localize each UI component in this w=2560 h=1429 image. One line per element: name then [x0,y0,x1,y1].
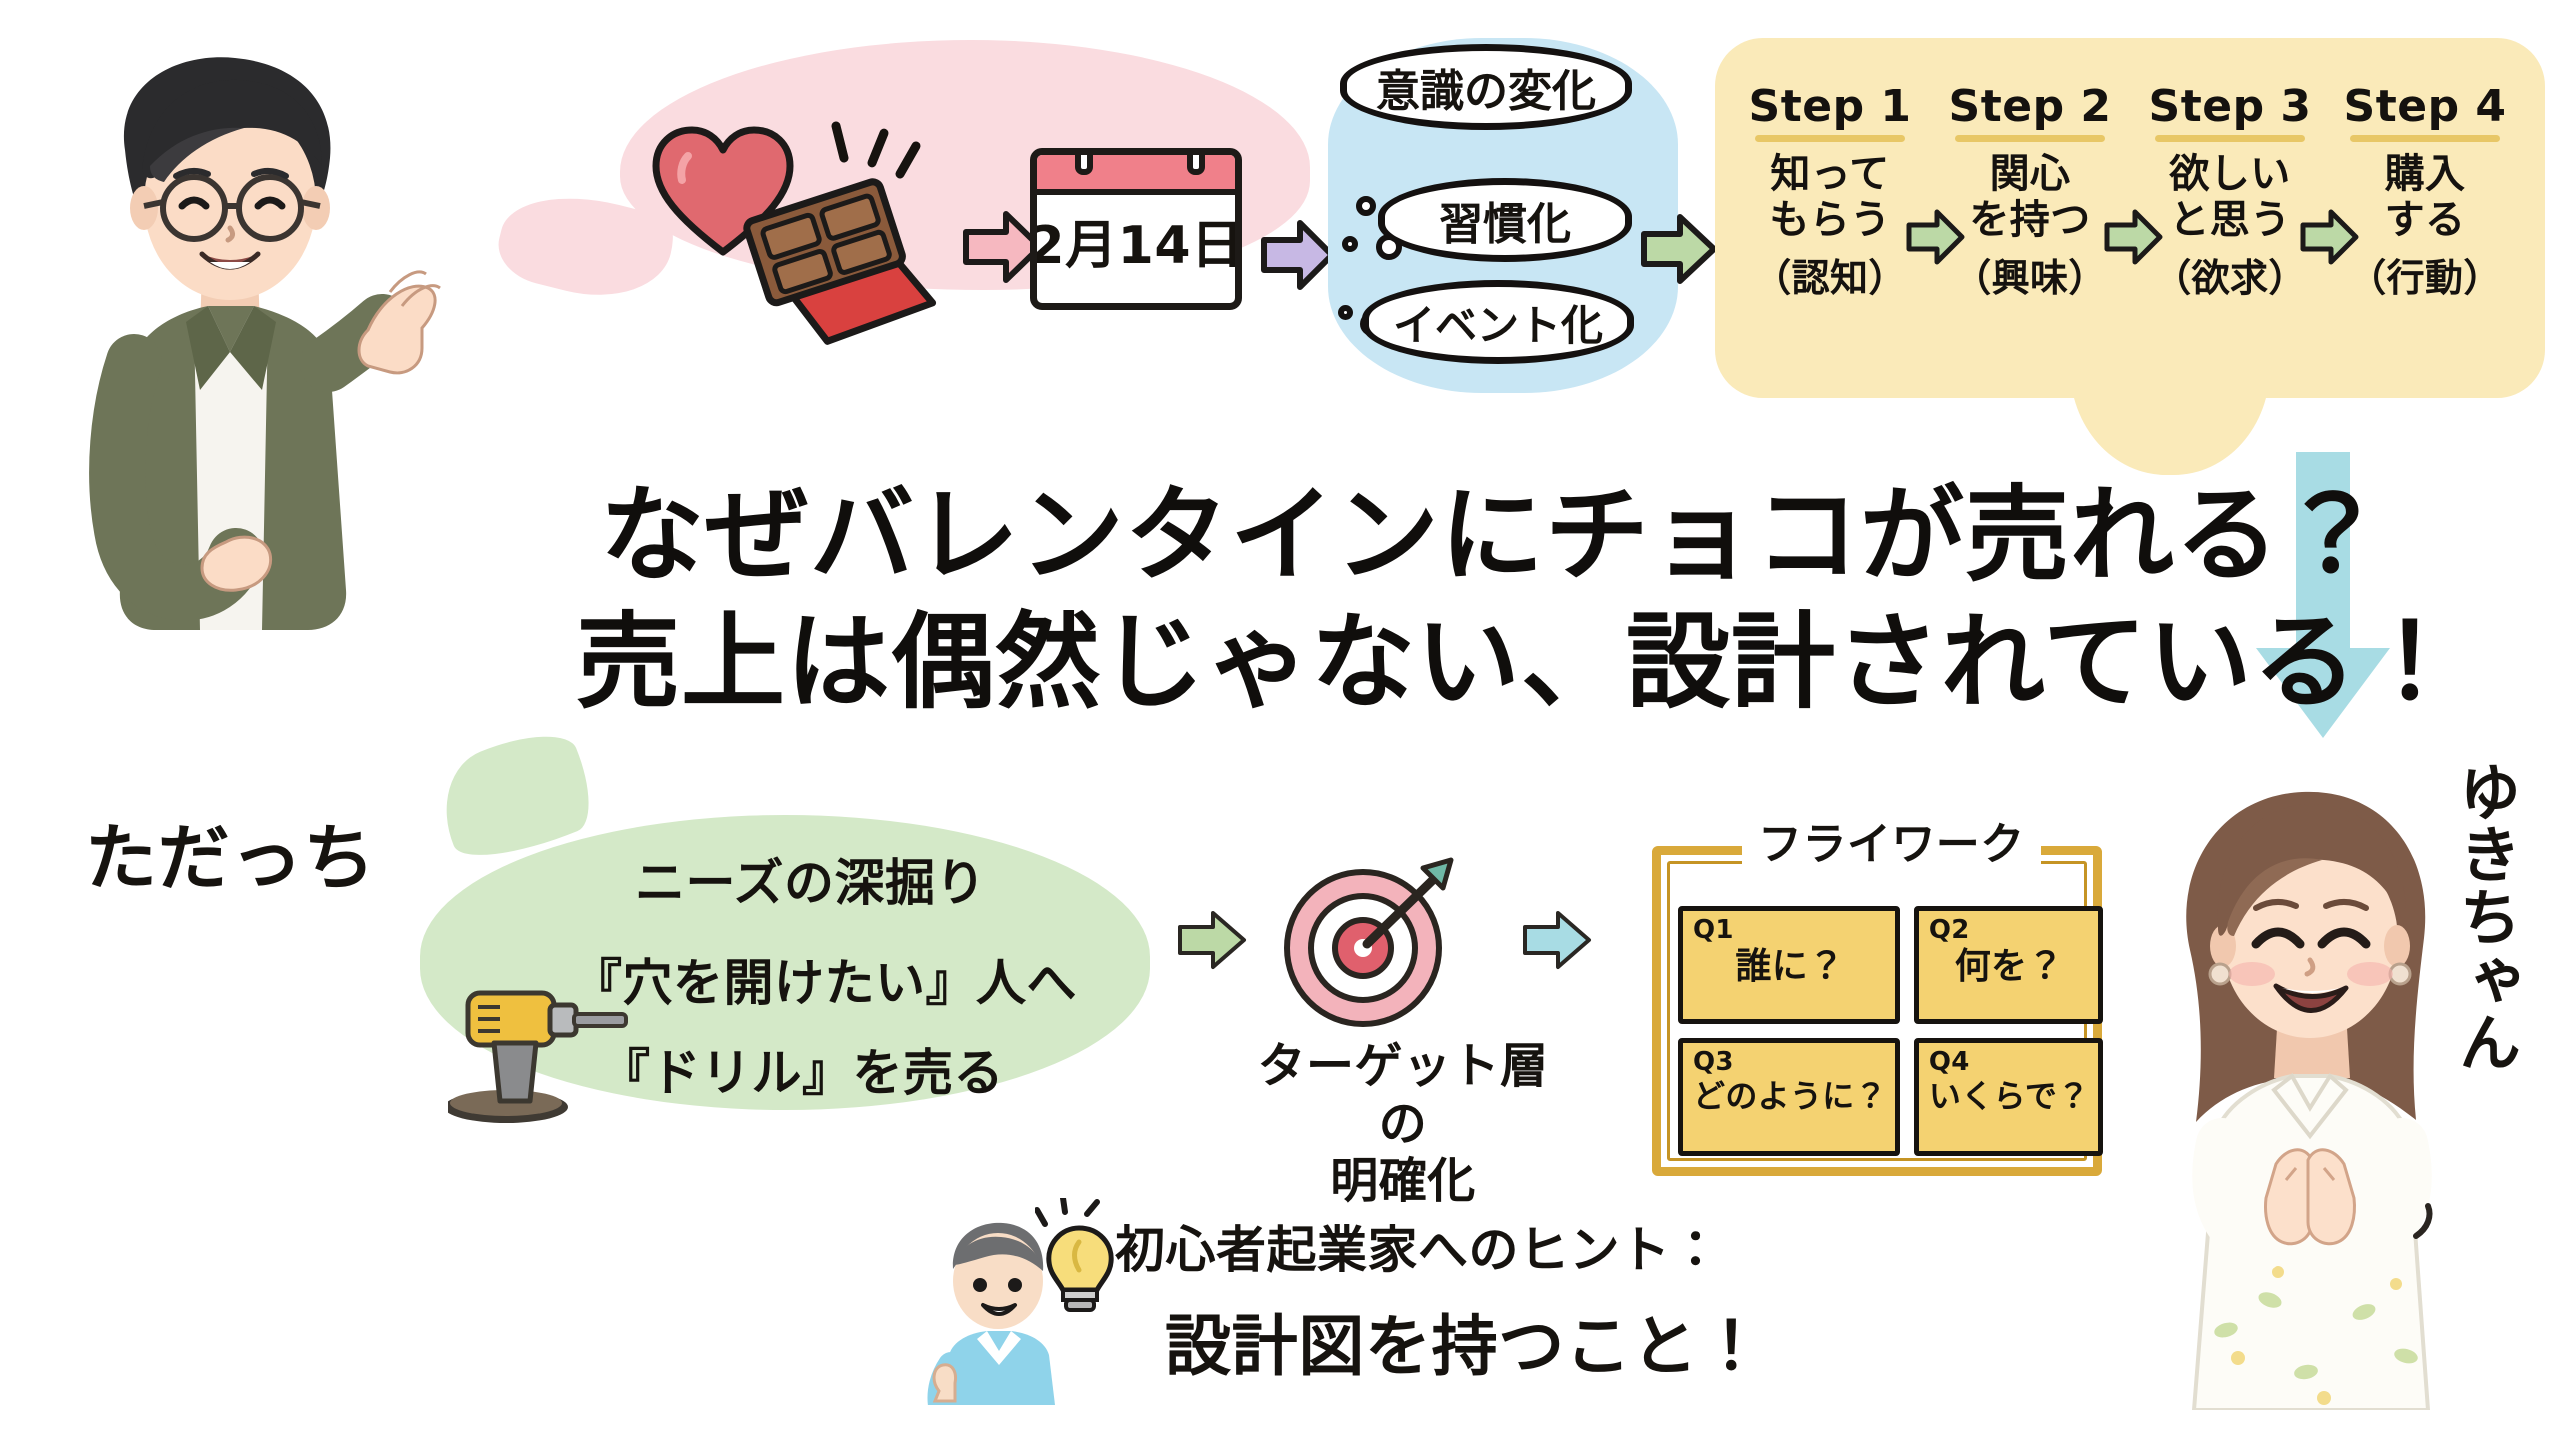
needs-heading: ニーズの深掘り [635,855,986,911]
page-title: なぜバレンタインにチョコが売れる？ 売上は偶然じゃない、設計されている！ [600,472,2150,726]
flywork-q1-number: Q1 [1693,917,1887,943]
character-name-left: ただっち [85,818,376,899]
hint-line-2: 設計図を持つこと！ [1165,1310,1765,1384]
step-1-line2: もらう [1740,198,1920,244]
thought-dot-small [1356,196,1376,216]
needs-to-target-arrow [1175,908,1249,976]
flywork-frame-label: フライワーク [1742,820,2041,869]
target-label-line-2: 明確化 [1243,1153,1563,1211]
flywork-cell-q3[interactable]: Q3 どのように？ [1678,1038,1900,1156]
step-3-line2: と思う [2140,198,2320,244]
purple-arrow-right-icon [1258,218,1338,296]
target-to-flywork-arrow [1520,908,1594,976]
thought-bubble-1: 意識の変化 [1340,44,1632,130]
step-1-paren: （認知） [1740,257,1920,300]
flywork-cell-q1[interactable]: Q1 誰に？ [1678,906,1900,1024]
calendar-date: 2月14日 [1037,195,1235,297]
step-4-line2: する [2335,198,2515,244]
flywork-cell-q4[interactable]: Q4 いくらで？ [1914,1038,2103,1156]
calendar-icon: 2月14日 [1030,148,1242,310]
flywork-q4-number: Q4 [1929,1049,2090,1075]
step-1-underline [1755,135,1905,142]
flywork-q2-text: 何を？ [1929,947,2090,987]
green-arrow-right-icon-main [1638,212,1720,290]
step-3-line1: 欲しい [2140,152,2320,198]
hint-line-1: 初心者起業家へのヒント： [1115,1222,1721,1278]
step-2-line1: 関心 [1940,152,2120,198]
step-2-line2: を持つ [1940,198,2120,244]
step-2-title: Step 2 [1940,82,2120,131]
step-4-underline [2350,135,2500,142]
thought-bubble-2-label: 習慣化 [1439,188,1571,252]
title-line-1: なぜバレンタインにチョコが売れる？ [600,472,2150,599]
needs-line-1: 『穴を開けたい』人へ [572,955,1077,1011]
thought-dot-tiny-2 [1338,305,1353,320]
infographic-canvas: ただっち [0,0,2560,1429]
target-dart-icon [1275,852,1455,1032]
step-3-title: Step 3 [2140,82,2320,131]
step-3: Step 3 欲しい と思う （欲求） [2140,82,2320,300]
flywork-q4-text: いくらで？ [1929,1079,2090,1115]
step-2-underline [1955,135,2105,142]
step-4: Step 4 購入 する （行動） [2335,82,2515,300]
step-2-paren: （興味） [1940,257,2120,300]
step-1-line1: 知って [1740,152,1920,198]
thought-bubble-3-label: イベント化 [1393,292,1603,353]
flywork-q1-text: 誰に？ [1693,947,1887,987]
target-label: ターゲット層の 明確化 [1243,1038,1563,1211]
thought-dot-tiny [1342,236,1358,252]
lightbulb-icon [1035,1198,1125,1318]
flywork-question-grid: Q1 誰に？ Q2 何を？ Q3 どのように？ Q4 いくらで？ [1678,906,2078,1156]
flywork-q2-number: Q2 [1929,917,2090,943]
flywork-q3-text: どのように？ [1693,1079,1887,1115]
target-label-line-1: ターゲット層の [1243,1038,1563,1153]
step-1: Step 1 知って もらう （認知） [1740,82,1920,300]
step-3-underline [2155,135,2305,142]
flywork-cell-q2[interactable]: Q2 何を？ [1914,906,2103,1024]
needs-line-2: 『ドリル』を売る [600,1045,1004,1101]
drill-icon [448,985,638,1125]
character-illustration-left [30,30,450,790]
chocolate-bar-icon [740,168,950,358]
character-name-right: ゆきちゃん [2452,760,2517,1073]
step-3-paren: （欲求） [2140,257,2320,300]
flywork-q3-number: Q3 [1693,1049,1887,1075]
step-4-line1: 購入 [2335,152,2515,198]
thought-bubble-3: イベント化 [1362,280,1634,364]
step-connector-arrow-2 [2102,208,2164,270]
step-4-title: Step 4 [2335,82,2515,131]
title-line-2: 売上は偶然じゃない、設計されている！ [576,599,2150,726]
step-1-title: Step 1 [1740,82,1920,131]
step-2: Step 2 関心 を持つ （興味） [1940,82,2120,300]
thought-bubble-2: 習慣化 [1378,178,1632,262]
step-connector-arrow-1 [1904,208,1966,270]
step-4-paren: （行動） [2335,257,2515,300]
step-connector-arrow-3 [2298,208,2360,270]
thought-bubble-1-label: 意識の変化 [1376,55,1596,119]
